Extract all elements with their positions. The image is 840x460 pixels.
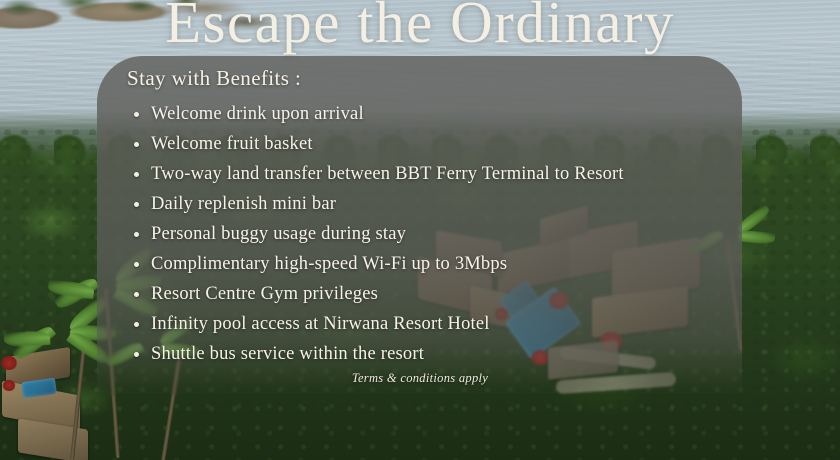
benefits-list: Welcome drink upon arrival Welcome fruit…: [127, 99, 727, 369]
list-item: Two-way land transfer between BBT Ferry …: [151, 159, 727, 189]
list-item-label: Infinity pool access at Nirwana Resort H…: [151, 314, 490, 334]
list-item-label: Complimentary high-speed Wi-Fi up to 3Mb…: [151, 254, 507, 274]
terms-and-conditions-note: Terms & conditions apply: [0, 371, 840, 386]
list-item: Shuttle bus service within the resort: [151, 339, 727, 369]
list-item-label: Two-way land transfer between BBT Ferry …: [151, 164, 624, 184]
bullet-icon: [134, 292, 139, 297]
list-item-label: Welcome fruit basket: [151, 134, 313, 154]
list-item: Complimentary high-speed Wi-Fi up to 3Mb…: [151, 249, 727, 279]
list-item: Daily replenish mini bar: [151, 189, 727, 219]
list-item-label: Personal buggy usage during stay: [151, 224, 406, 244]
bullet-icon: [134, 352, 139, 357]
list-item-label: Resort Centre Gym privileges: [151, 284, 378, 304]
list-item-label: Welcome drink upon arrival: [151, 104, 364, 124]
page-title: Escape the Ordinary: [0, 0, 840, 57]
benefits-heading: Stay with Benefits :: [127, 66, 727, 91]
list-item: Personal buggy usage during stay: [151, 219, 727, 249]
benefits-block: Stay with Benefits : Welcome drink upon …: [127, 66, 727, 369]
bullet-icon: [134, 112, 139, 117]
list-item: Infinity pool access at Nirwana Resort H…: [151, 309, 727, 339]
bullet-icon: [134, 142, 139, 147]
promo-poster: Escape the Ordinary Stay with Benefits :…: [0, 0, 840, 460]
list-item-label: Shuttle bus service within the resort: [151, 344, 424, 364]
bullet-icon: [134, 202, 139, 207]
list-item: Welcome drink upon arrival: [151, 99, 727, 129]
bullet-icon: [134, 322, 139, 327]
bullet-icon: [134, 262, 139, 267]
list-item-label: Daily replenish mini bar: [151, 194, 336, 214]
list-item: Welcome fruit basket: [151, 129, 727, 159]
bullet-icon: [134, 232, 139, 237]
list-item: Resort Centre Gym privileges: [151, 279, 727, 309]
bullet-icon: [134, 172, 139, 177]
